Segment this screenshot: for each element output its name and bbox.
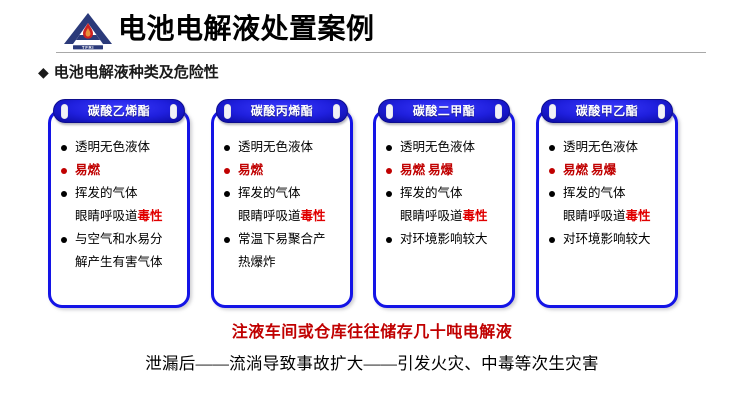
list-item-label: 挥发的气体: [563, 186, 626, 200]
page-title: 电池电解液处置案例: [118, 12, 375, 46]
bullet-icon: [61, 237, 67, 243]
section-heading: ◆电池电解液种类及危险性: [38, 62, 219, 83]
list-item-label: 易燃: [75, 163, 100, 177]
list-item-label: 与空气和水易分: [75, 232, 163, 246]
list-item-continuation: 眼睛呼吸道毒性: [214, 205, 350, 228]
bullet-icon: [386, 145, 392, 151]
badge-tab-right-icon: [170, 104, 177, 119]
bullet-icon: [61, 145, 67, 151]
list-item-cont-label: 热爆炸: [238, 255, 276, 269]
bullet-icon: [549, 191, 555, 197]
list-item: 挥发的气体: [214, 182, 350, 205]
substance-card[interactable]: 碳酸丙烯酯 透明无色液体 易燃 挥发的气体 眼睛呼吸道毒性 常温下易聚合产 热爆…: [211, 109, 353, 308]
list-item: 对环境影响较大: [376, 228, 512, 251]
diamond-bullet-icon: ◆: [38, 62, 49, 82]
slide-header: TFRI 电池电解液处置案例: [0, 0, 744, 56]
list-item: 易燃: [51, 159, 187, 182]
card-title-label: 碳酸丙烯酯: [251, 104, 314, 118]
list-item: 易燃: [214, 159, 350, 182]
bullet-icon: [386, 237, 392, 243]
list-item-cont-label: 眼睛呼吸道: [400, 209, 463, 223]
list-item: 易燃 易爆: [539, 159, 675, 182]
list-item: 与空气和水易分: [51, 228, 187, 251]
list-item-label: 挥发的气体: [75, 186, 138, 200]
list-item: 易燃 易爆: [376, 159, 512, 182]
list-item: 对环境影响较大: [539, 228, 675, 251]
list-item-cont-label: 眼睛呼吸道: [75, 209, 138, 223]
badge-tab-left-icon: [386, 104, 393, 119]
bullet-icon: [549, 168, 555, 174]
bullet-icon: [549, 145, 555, 151]
card-title-label: 碳酸甲乙酯: [576, 104, 639, 118]
toxicity-label: 毒性: [301, 209, 326, 223]
list-item-label: 对环境影响较大: [400, 232, 488, 246]
list-item-label: 易燃: [238, 163, 263, 177]
toxicity-label: 毒性: [626, 209, 651, 223]
card-title-badge: 碳酸乙烯酯: [53, 99, 185, 123]
bullet-icon: [224, 168, 230, 174]
list-item-continuation: 眼睛呼吸道毒性: [376, 205, 512, 228]
bullet-icon: [224, 191, 230, 197]
list-item-label: 透明无色液体: [563, 140, 638, 154]
bullet-icon: [224, 237, 230, 243]
list-item: 挥发的气体: [539, 182, 675, 205]
list-item-label: 挥发的气体: [238, 186, 301, 200]
substance-card[interactable]: 碳酸乙烯酯 透明无色液体 易燃 挥发的气体 眼睛呼吸道毒性 与空气和水易分 解产…: [48, 109, 190, 308]
card-property-list: 透明无色液体 易燃 易爆 挥发的气体 眼睛呼吸道毒性 对环境影响较大: [539, 136, 675, 251]
warning-statement: 注液车间或仓库往往储存几十吨电解液: [0, 322, 744, 344]
bullet-icon: [386, 191, 392, 197]
list-item-continuation: 眼睛呼吸道毒性: [51, 205, 187, 228]
tfri-logo: TFRI: [62, 11, 114, 51]
badge-tab-left-icon: [224, 104, 231, 119]
list-item-label: 常温下易聚合产: [238, 232, 326, 246]
list-item-label: 易燃 易爆: [563, 163, 616, 177]
list-item-continuation: 热爆炸: [214, 251, 350, 274]
list-item-cont-label: 眼睛呼吸道: [563, 209, 626, 223]
list-item-continuation: 眼睛呼吸道毒性: [539, 205, 675, 228]
toxicity-label: 毒性: [138, 209, 163, 223]
bullet-icon: [549, 237, 555, 243]
card-property-list: 透明无色液体 易燃 易爆 挥发的气体 眼睛呼吸道毒性 对环境影响较大: [376, 136, 512, 251]
card-title-badge: 碳酸丙烯酯: [216, 99, 348, 123]
list-item-continuation: 解产生有害气体: [51, 251, 187, 274]
list-item-cont-label: 眼睛呼吸道: [238, 209, 301, 223]
badge-tab-right-icon: [658, 104, 665, 119]
card-title-badge: 碳酸二甲酯: [378, 99, 510, 123]
card-title-badge: 碳酸甲乙酯: [541, 99, 673, 123]
substance-card[interactable]: 碳酸甲乙酯 透明无色液体 易燃 易爆 挥发的气体 眼睛呼吸道毒性 对环境影响较大: [536, 109, 678, 308]
title-divider: [56, 52, 706, 53]
list-item: 透明无色液体: [539, 136, 675, 159]
badge-tab-left-icon: [549, 104, 556, 119]
bullet-icon: [61, 168, 67, 174]
card-title-label: 碳酸乙烯酯: [88, 104, 151, 118]
svg-text:TFRI: TFRI: [82, 45, 94, 50]
list-item-label: 透明无色液体: [238, 140, 313, 154]
card-property-list: 透明无色液体 易燃 挥发的气体 眼睛呼吸道毒性 常温下易聚合产 热爆炸: [214, 136, 350, 274]
badge-tab-right-icon: [495, 104, 502, 119]
section-heading-label: 电池电解液种类及危险性: [54, 64, 219, 81]
badge-tab-left-icon: [61, 104, 68, 119]
list-item-label: 挥发的气体: [400, 186, 463, 200]
bullet-icon: [61, 191, 67, 197]
card-property-list: 透明无色液体 易燃 挥发的气体 眼睛呼吸道毒性 与空气和水易分 解产生有害气体: [51, 136, 187, 274]
substance-card[interactable]: 碳酸二甲酯 透明无色液体 易燃 易爆 挥发的气体 眼睛呼吸道毒性 对环境影响较大: [373, 109, 515, 308]
list-item-label: 易燃 易爆: [400, 163, 453, 177]
list-item: 透明无色液体: [51, 136, 187, 159]
list-item: 透明无色液体: [376, 136, 512, 159]
toxicity-label: 毒性: [463, 209, 488, 223]
bullet-icon: [224, 145, 230, 151]
substance-card-row: 碳酸乙烯酯 透明无色液体 易燃 挥发的气体 眼睛呼吸道毒性 与空气和水易分 解产…: [0, 96, 744, 316]
list-item-cont-label: 解产生有害气体: [75, 255, 163, 269]
list-item-label: 对环境影响较大: [563, 232, 651, 246]
bullet-icon: [386, 168, 392, 174]
list-item: 透明无色液体: [214, 136, 350, 159]
list-item-label: 透明无色液体: [75, 140, 150, 154]
badge-tab-right-icon: [333, 104, 340, 119]
card-title-label: 碳酸二甲酯: [413, 104, 476, 118]
list-item: 挥发的气体: [51, 182, 187, 205]
list-item: 挥发的气体: [376, 182, 512, 205]
list-item: 常温下易聚合产: [214, 228, 350, 251]
list-item-label: 透明无色液体: [400, 140, 475, 154]
consequence-statement: 泄漏后——流淌导致事故扩大——引发火灾、中毒等次生灾害: [0, 352, 744, 376]
